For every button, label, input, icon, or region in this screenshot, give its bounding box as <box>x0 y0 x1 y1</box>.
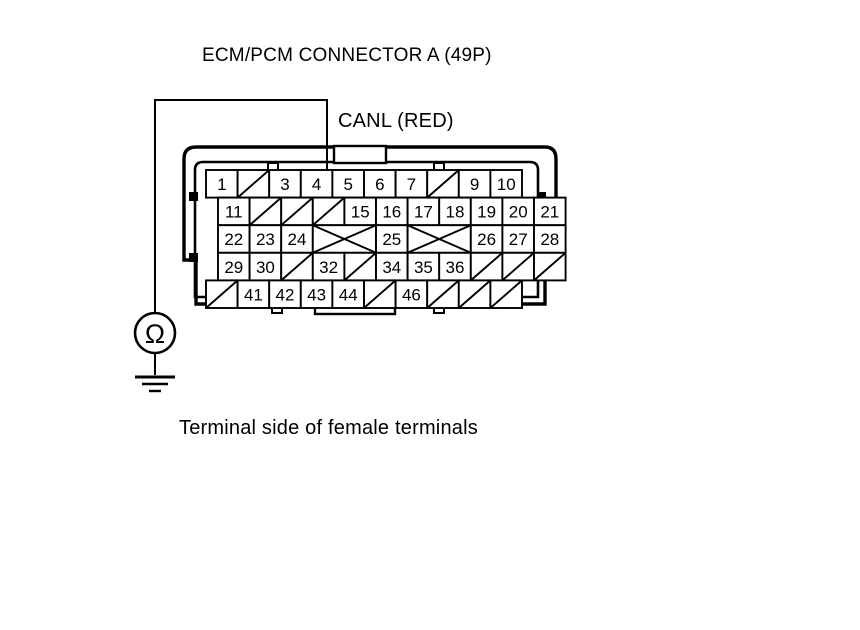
pin-number: 32 <box>319 258 338 277</box>
pin-number: 35 <box>414 258 433 277</box>
pin-number: 28 <box>540 230 559 249</box>
pin-cell: 4 <box>301 170 333 198</box>
blank-cell <box>364 280 396 308</box>
blank-cell <box>534 253 566 281</box>
pin-number: 34 <box>382 258 401 277</box>
pin-grid: 1345679101115161718192021222324252627282… <box>206 170 566 308</box>
pin-number: 42 <box>276 285 295 304</box>
pin-number: 23 <box>256 230 275 249</box>
pin-cell: 24 <box>281 225 313 253</box>
blank-cell <box>313 225 376 253</box>
pin-cell: 3 <box>269 170 301 198</box>
blank-cell <box>408 225 471 253</box>
pin-number: 7 <box>407 175 416 194</box>
blank-cell <box>206 280 238 308</box>
pin-number: 22 <box>224 230 243 249</box>
pin-cell: 5 <box>332 170 364 198</box>
pin-cell: 43 <box>301 280 333 308</box>
pin-number: 41 <box>244 285 263 304</box>
pin-number: 10 <box>497 175 516 194</box>
pin-cell: 34 <box>376 253 408 281</box>
pin-number: 43 <box>307 285 326 304</box>
blank-cell <box>344 253 376 281</box>
pin-number: 27 <box>509 230 528 249</box>
pin-number: 15 <box>351 203 370 222</box>
blank-cell <box>281 198 313 226</box>
blank-cell <box>250 198 282 226</box>
pin-cell: 25 <box>376 225 408 253</box>
pin-cell: 10 <box>490 170 522 198</box>
pin-number: 21 <box>540 203 559 222</box>
pin-number: 9 <box>470 175 479 194</box>
pin-number: 3 <box>280 175 289 194</box>
pin-cell: 1 <box>206 170 238 198</box>
blank-cell <box>313 198 345 226</box>
wiring-diagram-figure: ECM/PCM CONNECTOR A (49P) CANL (RED) Ter… <box>0 0 860 630</box>
pin-row: 1115161718192021 <box>218 198 566 226</box>
blank-cell <box>427 280 459 308</box>
pin-number: 44 <box>339 285 358 304</box>
pin-number: 18 <box>446 203 465 222</box>
pin-row: 22232425262728 <box>218 225 566 253</box>
pin-cell: 30 <box>250 253 282 281</box>
pin-number: 26 <box>477 230 496 249</box>
pin-number: 20 <box>509 203 528 222</box>
pin-number: 24 <box>288 230 307 249</box>
pin-cell: 36 <box>439 253 471 281</box>
pin-cell: 21 <box>534 198 566 226</box>
pin-cell: 6 <box>364 170 396 198</box>
pin-cell: 15 <box>344 198 376 226</box>
latch-left-2 <box>189 253 198 262</box>
blank-cell <box>459 280 491 308</box>
pin-row: 134567910 <box>206 170 522 198</box>
pin-cell: 28 <box>534 225 566 253</box>
pin-number: 30 <box>256 258 275 277</box>
blank-cell <box>490 280 522 308</box>
pin-number: 16 <box>382 203 401 222</box>
pin-row: 293032343536 <box>218 253 566 281</box>
pin-number: 11 <box>225 203 243 222</box>
pin-number: 17 <box>414 203 433 222</box>
blank-cell <box>502 253 534 281</box>
pin-cell: 18 <box>439 198 471 226</box>
pin-row: 4142434446 <box>206 280 522 308</box>
pin-cell: 42 <box>269 280 301 308</box>
pin-cell: 44 <box>332 280 364 308</box>
latch-left-1 <box>189 192 198 201</box>
connector-illustration: 1345679101115161718192021222324252627282… <box>0 0 860 630</box>
pin-number: 19 <box>477 203 496 222</box>
pin-number: 1 <box>217 175 226 194</box>
top-center-latch-tab <box>334 146 386 163</box>
pin-cell: 32 <box>313 253 345 281</box>
pin-cell: 16 <box>376 198 408 226</box>
pin-cell: 22 <box>218 225 250 253</box>
pin-number: 5 <box>343 175 352 194</box>
ground-symbol <box>135 353 175 391</box>
pin-cell: 7 <box>396 170 428 198</box>
pin-number: 36 <box>446 258 465 277</box>
pin-cell: 19 <box>471 198 503 226</box>
pin-cell: 46 <box>396 280 428 308</box>
pin-number: 6 <box>375 175 384 194</box>
pin-number: 25 <box>382 230 401 249</box>
pin-cell: 9 <box>459 170 491 198</box>
pin-cell: 23 <box>250 225 282 253</box>
pin-number: 46 <box>402 285 421 304</box>
pin-cell: 35 <box>408 253 440 281</box>
pin-cell: 17 <box>408 198 440 226</box>
pin-cell: 20 <box>502 198 534 226</box>
pin-number: 4 <box>312 175 321 194</box>
pin-cell: 26 <box>471 225 503 253</box>
pin-cell: 29 <box>218 253 250 281</box>
pin-cell: 41 <box>238 280 270 308</box>
pin-cell: 11 <box>218 198 250 226</box>
pin-number: 29 <box>224 258 243 277</box>
pin-cell: 27 <box>502 225 534 253</box>
ohmmeter-symbol: Ω <box>135 313 175 353</box>
blank-cell <box>238 170 270 198</box>
blank-cell <box>427 170 459 198</box>
blank-cell <box>281 253 313 281</box>
blank-cell <box>471 253 503 281</box>
ohm-glyph: Ω <box>145 319 165 349</box>
